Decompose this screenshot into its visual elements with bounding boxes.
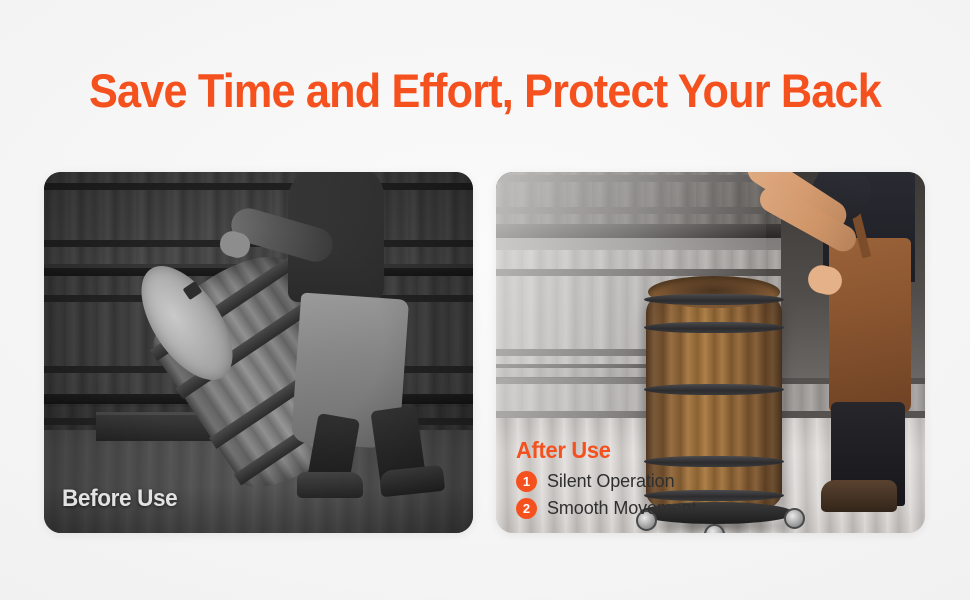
caster-wheel [784, 508, 805, 529]
after-use-caption: After Use 1 Silent Operation 2 Smooth Mo… [516, 437, 697, 519]
before-use-image [44, 172, 473, 533]
page-title: Save Time and Effort, Protect Your Back [39, 62, 931, 120]
barrel-hoop [644, 322, 784, 333]
promo-banner: Save Time and Effort, Protect Your Back [0, 0, 970, 600]
before-use-panel: Before Use [44, 172, 473, 533]
feature-item-1: 1 Silent Operation [516, 471, 697, 492]
feature-item-2: 2 Smooth Movement [516, 498, 697, 519]
image-vignette [44, 172, 473, 533]
barrel-hoop [644, 384, 784, 395]
bullet-number-2: 2 [516, 498, 537, 519]
bullet-number-1: 1 [516, 471, 537, 492]
after-use-panel: After Use 1 Silent Operation 2 Smooth Mo… [496, 172, 925, 533]
person-apron [829, 238, 911, 414]
barrel-hoop [644, 294, 784, 305]
after-use-label: After Use [516, 437, 688, 464]
before-use-label: Before Use [62, 485, 177, 513]
person-boot [821, 480, 897, 512]
feature-label-1: Silent Operation [547, 471, 674, 492]
feature-label-2: Smooth Movement [547, 498, 697, 519]
